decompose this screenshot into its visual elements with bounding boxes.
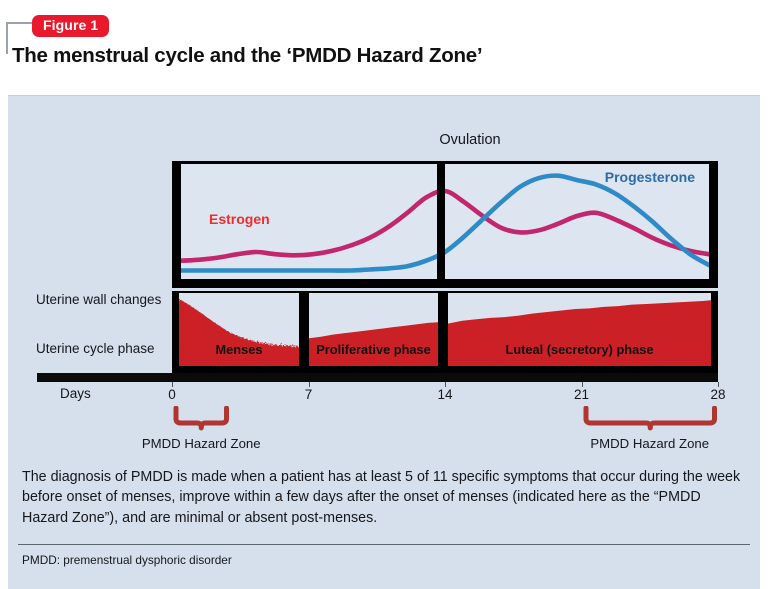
phase-label-luteal: Luteal (secretory) phase (448, 342, 711, 357)
phase-box-proliferative: Proliferative phase (302, 291, 445, 373)
hormone-plot-box: Estrogen Progesterone (172, 161, 718, 288)
hormone-plot-inner: Estrogen Progesterone (181, 164, 709, 279)
day-tick-label-14: 14 (425, 387, 465, 402)
figure-heading: Figure 1 The menstrual cycle and the ‘PM… (0, 0, 768, 95)
day-tick-label-0: 0 (152, 387, 192, 402)
phase-box-luteal: Luteal (secretory) phase (441, 291, 718, 373)
bracket-icon (582, 406, 719, 432)
estrogen-label: Estrogen (209, 211, 270, 227)
day-tick-label-7: 7 (289, 387, 329, 402)
hazard-zone-label-2: PMDD Hazard Zone (550, 436, 750, 451)
day-axis-bar (37, 373, 718, 382)
phase-label-menses: Menses (179, 342, 299, 357)
phase-label-proliferative: Proliferative phase (309, 342, 438, 357)
hazard-zone-label-1: PMDD Hazard Zone (101, 436, 301, 451)
hazard-zone-bracket-1 (172, 406, 231, 432)
figure-footnote: PMDD: premenstrual dysphoric disorder (22, 553, 232, 567)
page-title: The menstrual cycle and the ‘PMDD Hazard… (12, 44, 752, 68)
figure-caption: The diagnosis of PMDD is made when a pat… (22, 467, 746, 528)
day-tick-label-28: 28 (698, 387, 738, 402)
phase-box-menses: Menses (172, 291, 306, 373)
hazard-zone-bracket-2 (582, 406, 719, 432)
uterine-row: Menses Proliferative phase Luteal (secre… (172, 291, 718, 373)
ovulation-divider (437, 164, 445, 279)
axis-caption-days: Days (60, 386, 91, 401)
figure-number-badge: Figure 1 (32, 15, 109, 37)
figure-root: Figure 1 The menstrual cycle and the ‘PM… (0, 0, 768, 588)
chart-graphic: Ovulation Estrogen Progesterone (8, 96, 760, 456)
bracket-icon (172, 406, 231, 432)
ovulation-label: Ovulation (400, 132, 540, 148)
row-label-uterine-phase: Uterine cycle phase (36, 341, 155, 356)
row-label-uterine-wall: Uterine wall changes (36, 292, 161, 307)
figure-panel: Ovulation Estrogen Progesterone (8, 95, 760, 589)
day-tick-label-21: 21 (562, 387, 602, 402)
progesterone-label: Progesterone (605, 169, 695, 185)
caption-divider (18, 544, 750, 545)
